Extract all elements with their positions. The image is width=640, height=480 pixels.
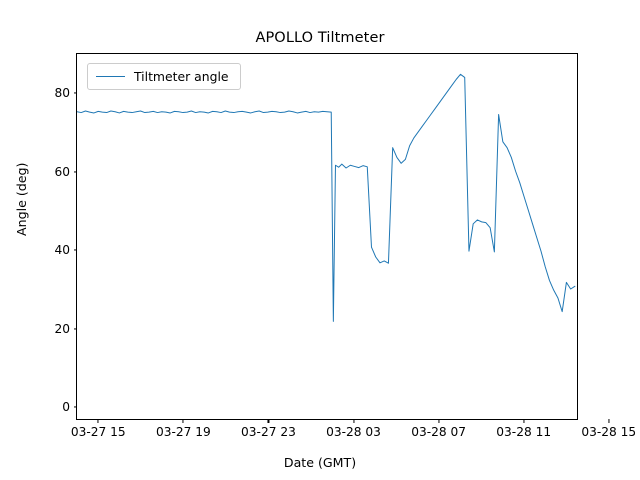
- y-tick-label: 60: [54, 165, 70, 179]
- chart-title: APOLLO Tiltmeter: [0, 30, 640, 46]
- x-tick-label: 03-28 15: [581, 425, 636, 439]
- x-tick-mark: [98, 419, 99, 423]
- x-tick-mark: [183, 419, 184, 423]
- legend-line-swatch: [96, 76, 125, 77]
- plot-axes: 020406080 03-27 1503-27 1903-27 2303-28 …: [76, 53, 578, 420]
- y-tick-mark: [74, 171, 78, 172]
- y-tick-label: 80: [54, 86, 70, 100]
- y-tick-mark: [74, 250, 78, 251]
- y-axis-label: Angle (deg): [14, 163, 29, 236]
- x-tick-label: 03-27 19: [156, 425, 211, 439]
- x-tick-mark: [608, 419, 609, 423]
- x-tick-label: 03-27 23: [241, 425, 296, 439]
- x-tick-label: 03-27 15: [71, 425, 126, 439]
- y-tick-label: 40: [54, 243, 70, 257]
- x-tick-mark: [353, 419, 354, 423]
- y-tick-mark: [74, 407, 78, 408]
- figure-canvas: APOLLO Tiltmeter Angle (deg) Date (GMT) …: [0, 0, 640, 480]
- x-tick-label: 03-28 03: [326, 425, 381, 439]
- legend: Tiltmeter angle: [87, 63, 241, 90]
- y-tick-label: 20: [54, 322, 70, 336]
- series-tiltmeter-angle: [77, 74, 575, 321]
- legend-label-tiltmeter-angle: Tiltmeter angle: [134, 69, 229, 84]
- x-tick-mark: [523, 419, 524, 423]
- x-tick-label: 03-28 07: [411, 425, 466, 439]
- x-axis-label: Date (GMT): [0, 455, 640, 470]
- x-tick-mark: [268, 419, 269, 423]
- y-tick-mark: [74, 93, 78, 94]
- x-tick-label: 03-28 11: [496, 425, 551, 439]
- line-plot: [77, 54, 577, 419]
- y-tick-label: 0: [62, 400, 70, 414]
- y-tick-mark: [74, 328, 78, 329]
- x-tick-mark: [438, 419, 439, 423]
